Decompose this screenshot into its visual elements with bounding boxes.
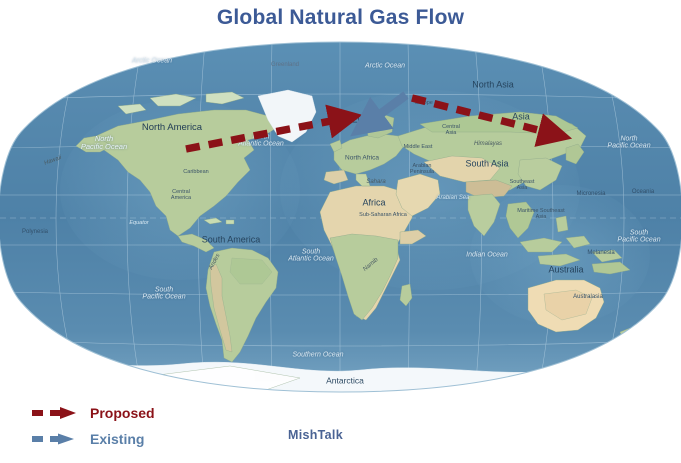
legend-item-proposed[interactable]: Proposed — [30, 400, 155, 426]
arrow-existing-into-europe — [375, 95, 406, 118]
legend-item-existing[interactable]: Existing — [30, 426, 155, 452]
arrow-europe-to-asia — [412, 98, 546, 132]
legend-label-existing: Existing — [90, 431, 144, 447]
proposed-arrow-icon — [30, 405, 82, 421]
legend: Proposed Existing — [30, 400, 155, 452]
existing-arrow-icon — [30, 431, 82, 447]
legend-label-proposed: Proposed — [90, 405, 155, 421]
page-title: Global Natural Gas Flow — [0, 6, 681, 30]
watermark: MishTalk — [288, 428, 343, 442]
gas-flow-arrow-layer — [0, 40, 681, 395]
arrow-north-america-to-europe — [186, 120, 336, 149]
world-map: Arctic OceanArctic OceanGreenlandNorth A… — [0, 40, 681, 395]
